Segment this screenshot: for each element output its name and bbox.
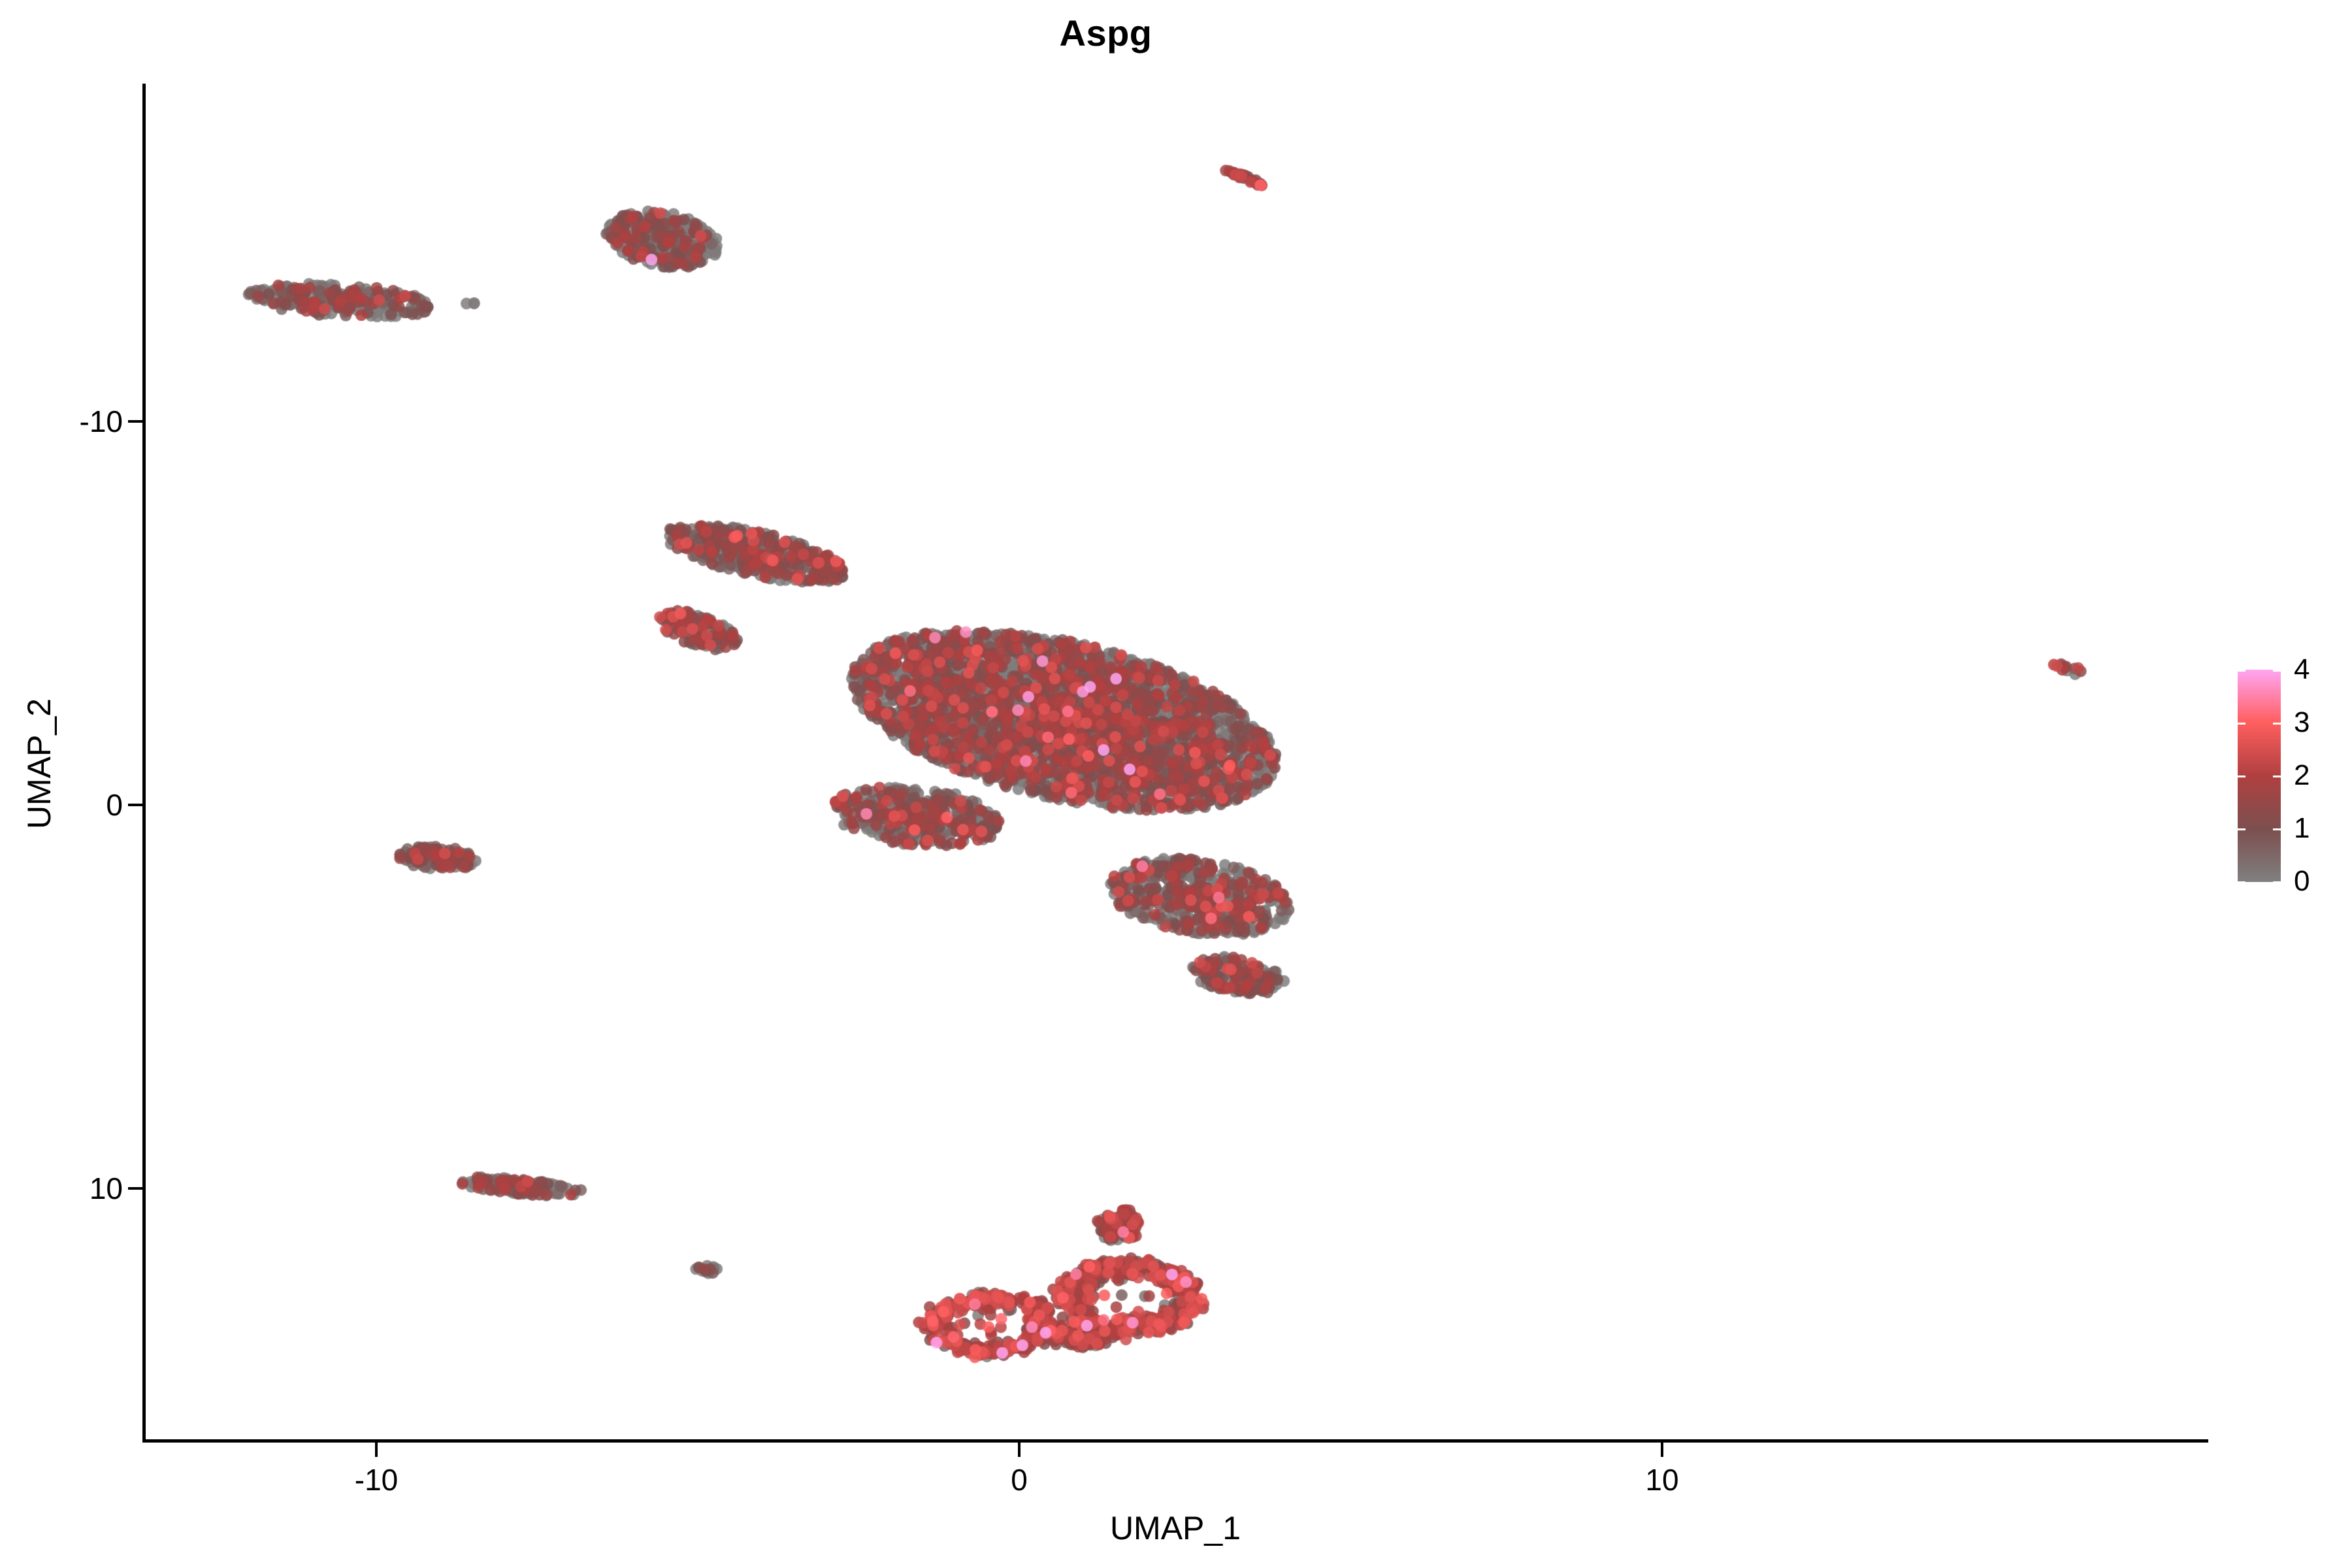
legend-tick-mark [2238,670,2246,672]
x-tick-label: 0 [954,1462,1085,1497]
x-tick-mark [375,1443,378,1457]
x-axis-line [142,1439,2208,1443]
legend-tick-mark [2238,723,2246,725]
y-tick-mark [128,1187,142,1190]
x-tick-label: 10 [1597,1462,1727,1497]
y-axis-title: UMAP_2 [20,404,58,1123]
legend-tick-mark [2238,828,2246,830]
y-tick-mark [128,420,142,423]
legend-tick-mark [2273,828,2281,830]
legend-label: 2 [2294,759,2310,792]
legend-label: 0 [2294,865,2310,898]
legend-label: 4 [2294,653,2310,686]
legend-tick-mark [2238,881,2246,883]
umap-feature-plot: Aspg 100-10-10010 UMAP_1 UMAP_2 43210 [0,0,2352,1568]
color-legend: 43210 [2238,670,2342,885]
y-tick-label: 10 [0,1171,123,1206]
legend-label: 1 [2294,812,2310,845]
x-axis-title: UMAP_1 [142,1509,2208,1547]
y-tick-mark [128,804,142,806]
legend-tick-mark [2273,670,2281,672]
legend-tick-mark [2273,776,2281,777]
page-title: Aspg [0,12,2212,54]
y-axis-line [142,84,146,1443]
legend-tick-mark [2273,881,2281,883]
legend-label: 3 [2294,706,2310,739]
scatter-plot-canvas [144,84,2208,1441]
legend-tick-mark [2273,723,2281,725]
x-tick-mark [1018,1443,1021,1457]
legend-tick-mark [2238,776,2246,777]
y-tick-label: 0 [0,787,123,823]
y-tick-label: -10 [0,404,123,439]
x-tick-label: -10 [311,1462,442,1497]
x-tick-mark [1661,1443,1663,1457]
